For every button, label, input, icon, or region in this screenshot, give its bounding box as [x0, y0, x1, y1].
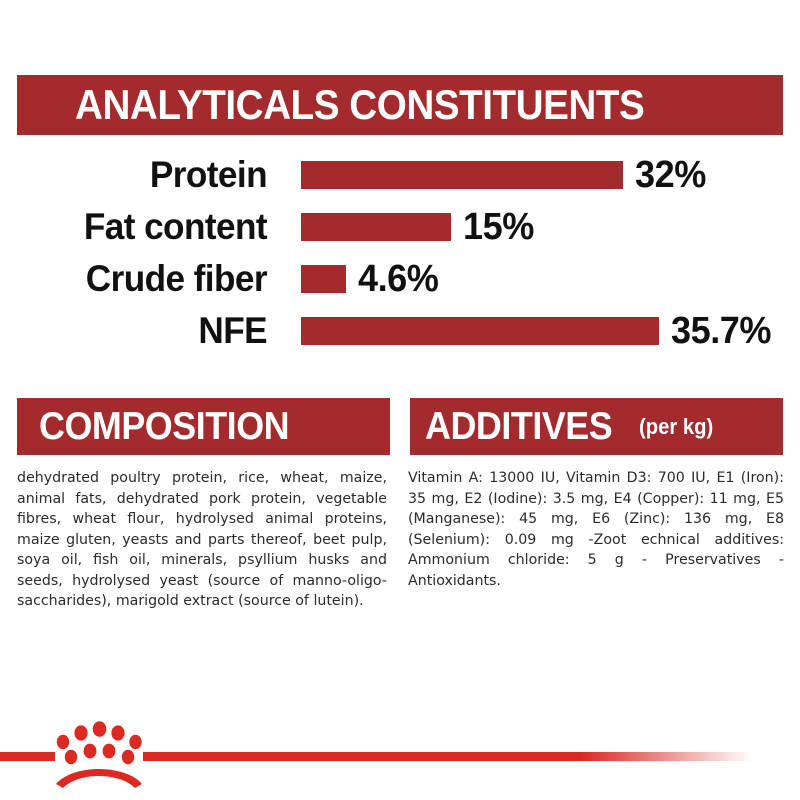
bar-fill-nfe [301, 317, 659, 345]
additives-per-kg-label: (per kg) [639, 414, 713, 440]
analytical-constituents-chart: Protein 32% Fat content 15% Crude fiber … [0, 152, 800, 362]
bar-track-fat-content: 15% [301, 206, 538, 249]
bar-label-crude-fiber: Crude fiber [13, 258, 267, 300]
chart-row-fat-content: Fat content 15% [0, 204, 800, 250]
bar-value-nfe: 35.7% [671, 310, 771, 353]
analytical-constituents-header: ANALYTICALS CONSTITUENTS [17, 75, 783, 135]
chart-row-nfe: NFE 35.7% [0, 308, 800, 354]
bar-value-crude-fiber: 4.6% [358, 258, 438, 301]
additives-body-text: Vitamin A: 13000 IU, Vitamin D3: 700 IU,… [408, 468, 784, 591]
footer-rule-right [143, 752, 753, 761]
bar-label-nfe: NFE [13, 310, 267, 352]
chart-row-crude-fiber: Crude fiber 4.6% [0, 256, 800, 302]
additives-header: ADDITIVES (per kg) [410, 398, 783, 455]
composition-body-text: dehydrated poultry protein, rice, wheat,… [17, 468, 387, 612]
additives-title: ADDITIVES [425, 405, 612, 449]
composition-header: COMPOSITION [17, 398, 390, 455]
bar-fill-protein [301, 161, 623, 189]
footer-brand-rule [0, 690, 800, 800]
analytical-constituents-title: ANALYTICALS CONSTITUENTS [75, 81, 644, 129]
bar-track-nfe: 35.7% [301, 310, 776, 353]
composition-title: COMPOSITION [39, 405, 289, 449]
bar-label-fat-content: Fat content [13, 206, 267, 248]
bar-label-protein: Protein [13, 154, 267, 196]
nutrition-label-page: ANALYTICALS CONSTITUENTS Protein 32% Fat… [0, 0, 800, 800]
footer-rule-left [0, 752, 55, 761]
bar-track-crude-fiber: 4.6% [301, 258, 443, 301]
bar-track-protein: 32% [301, 154, 710, 197]
royal-canin-crown-icon [53, 718, 145, 790]
chart-row-protein: Protein 32% [0, 152, 800, 198]
bar-fill-crude-fiber [301, 265, 346, 293]
bar-value-fat-content: 15% [463, 206, 534, 249]
bar-fill-fat-content [301, 213, 451, 241]
bar-value-protein: 32% [635, 154, 706, 197]
